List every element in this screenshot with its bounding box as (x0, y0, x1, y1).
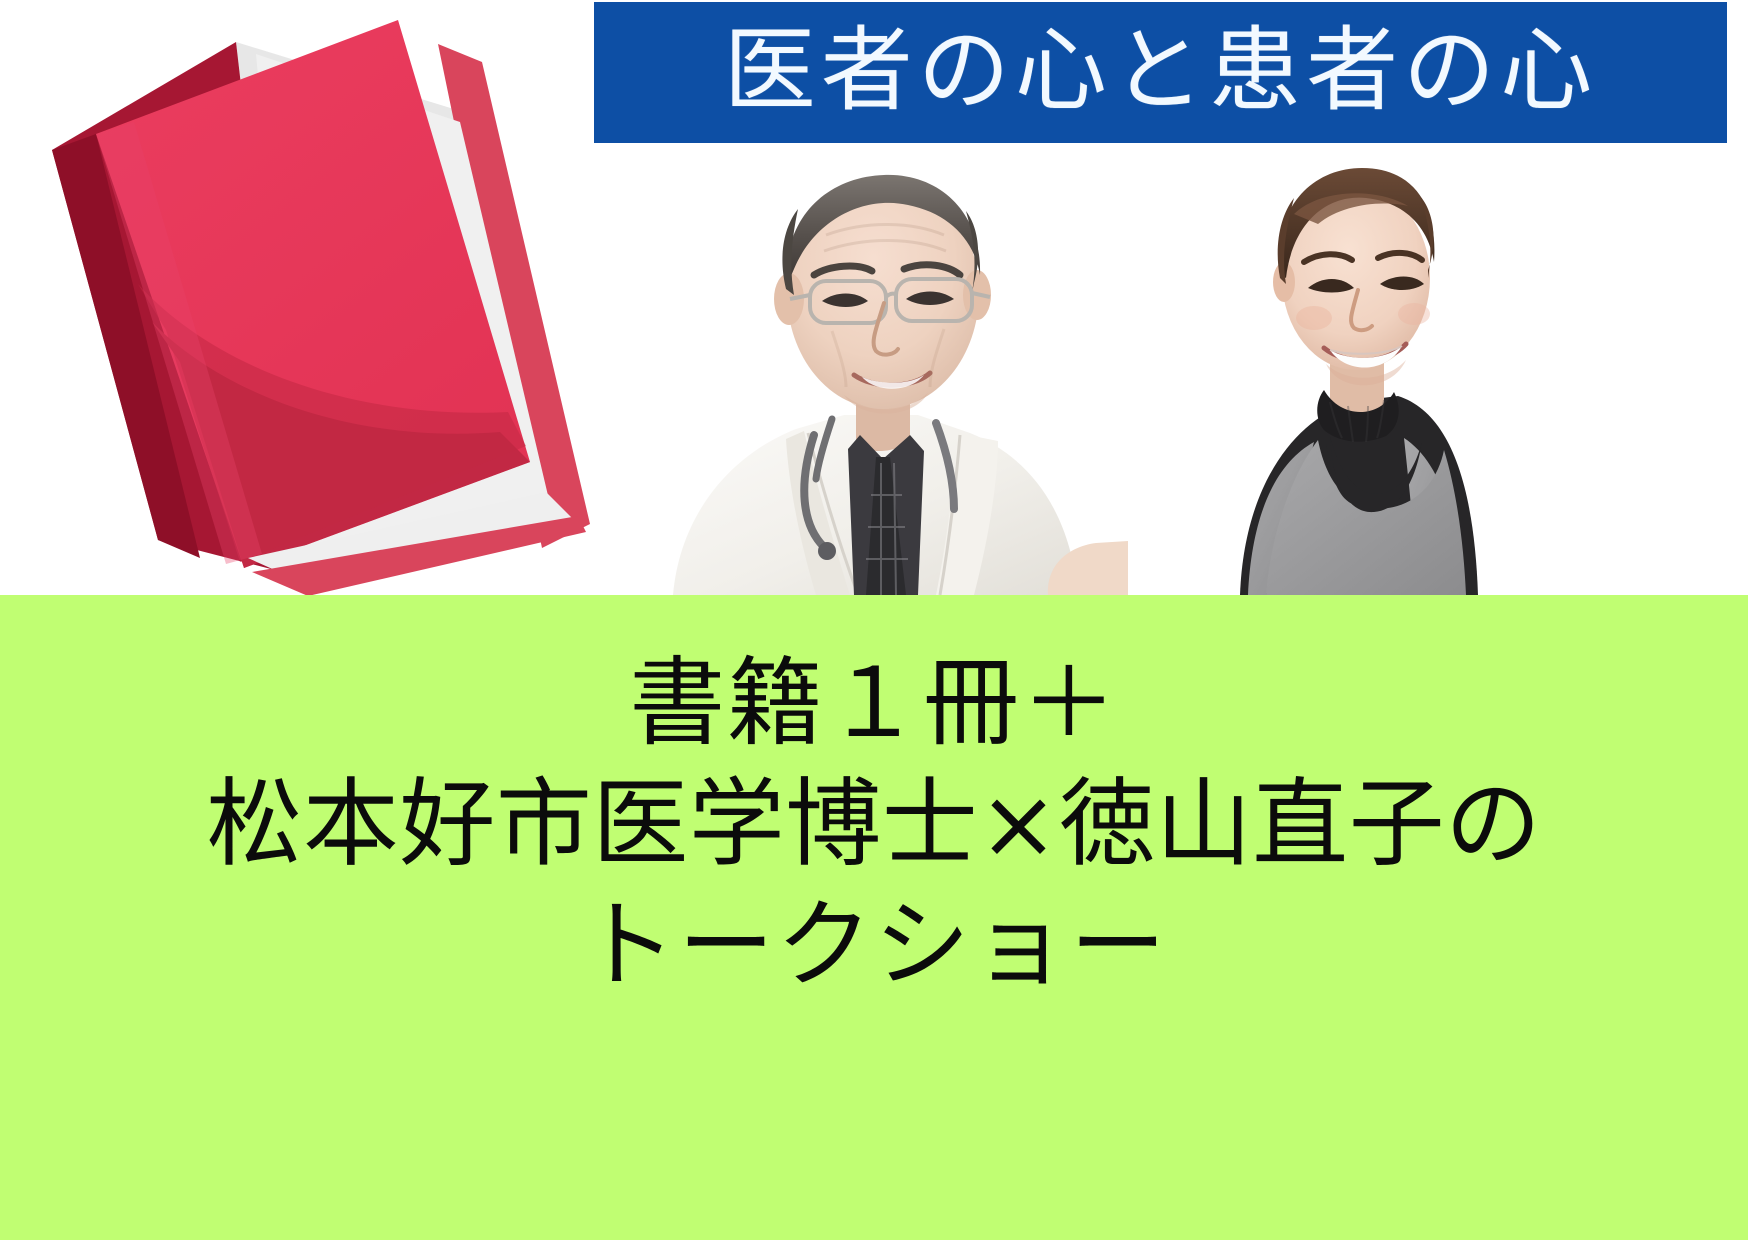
smiling-woman-photo (1222, 150, 1480, 595)
caption-panel: 書籍１冊＋ 松本好市医学博士×徳山直子の トークショー (0, 595, 1748, 1240)
elderly-male-doctor-photo (618, 143, 1128, 595)
title-banner-text: 医者の心と患者の心 (724, 25, 1598, 121)
caption-line-3: トークショー (580, 885, 1168, 1006)
red-book-illustration (30, 0, 650, 595)
caption-line-1: 書籍１冊＋ (629, 643, 1119, 764)
promo-poster: 書籍１冊＋ 松本好市医学博士×徳山直子の トークショー 医者の心と患者の心 (0, 0, 1748, 1240)
title-banner: 医者の心と患者の心 (594, 2, 1727, 143)
caption-line-2: 松本好市医学博士×徳山直子の (206, 764, 1541, 885)
